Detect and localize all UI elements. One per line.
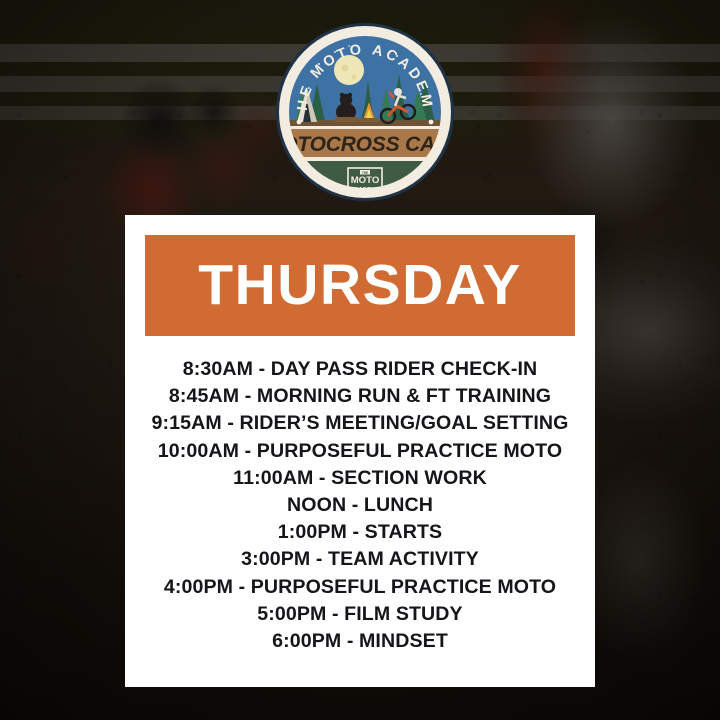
schedule-item: 10:00AM - PURPOSEFUL PRACTICE MOTO — [133, 438, 587, 465]
schedule-item: 8:30AM - DAY PASS RIDER CHECK-IN — [133, 356, 587, 383]
badge-moon-crater — [352, 75, 357, 80]
schedule-item: 5:00PM - FILM STUDY — [133, 601, 587, 628]
day-title: THURSDAY — [198, 257, 521, 314]
day-banner: THURSDAY — [145, 235, 575, 336]
schedule-item: 1:00PM - STARTS — [133, 519, 587, 546]
badge-moon-crater — [342, 65, 349, 72]
poster-canvas: MOTOCROSS CAMP THE MOTO ACADEMY THE MOTO… — [0, 0, 720, 720]
schedule-list: 8:30AM - DAY PASS RIDER CHECK-IN 8:45AM … — [133, 356, 587, 655]
schedule-item: 8:45AM - MORNING RUN & FT TRAINING — [133, 383, 587, 410]
mark-line-moto: MOTO — [351, 175, 380, 186]
badge-dot-left — [297, 120, 302, 125]
schedule-item: 6:00PM - MINDSET — [133, 628, 587, 655]
mark-line-academy: ACADEMY — [350, 187, 380, 193]
badge-band-bottom-edge — [289, 157, 441, 161]
badge-band-text: MOTOCROSS CAMP — [275, 133, 455, 156]
schedule-item: 3:00PM - TEAM ACTIVITY — [133, 546, 587, 573]
schedule-item: 9:15AM - RIDER’S MEETING/GOAL SETTING — [133, 410, 587, 437]
moto-academy-logo-badge: MOTOCROSS CAMP THE MOTO ACADEMY THE MOTO… — [275, 22, 455, 202]
schedule-item: 4:00PM - PURPOSEFUL PRACTICE MOTO — [133, 574, 587, 601]
badge-log — [335, 117, 359, 122]
badge-dot-right — [429, 120, 434, 125]
schedule-card: THURSDAY 8:30AM - DAY PASS RIDER CHECK-I… — [125, 215, 595, 687]
logo-badge-svg: MOTOCROSS CAMP THE MOTO ACADEMY THE MOTO… — [275, 22, 455, 202]
schedule-item: NOON - LUNCH — [133, 492, 587, 519]
schedule-item: 11:00AM - SECTION WORK — [133, 465, 587, 492]
